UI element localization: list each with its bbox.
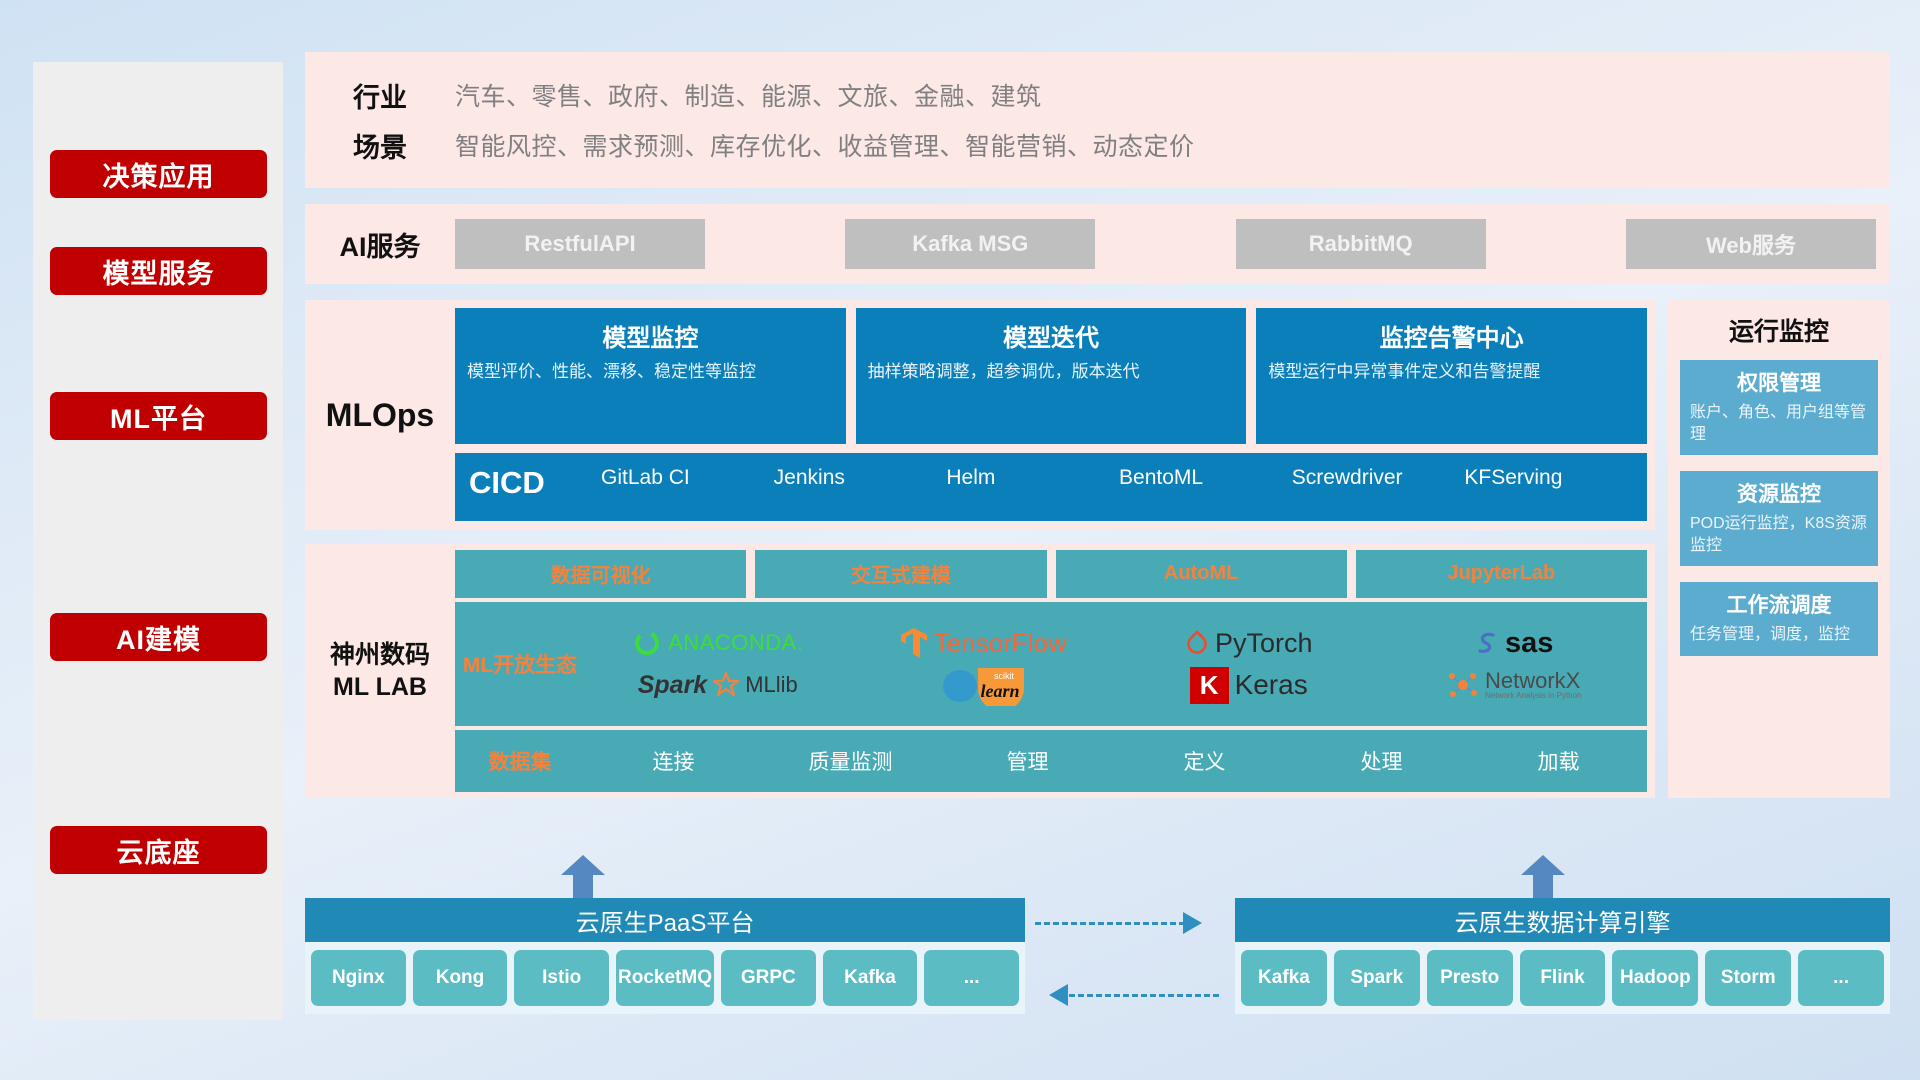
tech-chip-spark[interactable]: Spark bbox=[1334, 950, 1420, 1006]
cicd-item[interactable]: Helm bbox=[942, 465, 1115, 491]
spark-wordmark: Spark bbox=[638, 671, 707, 700]
networkx-logo: NetworkX Network Analysis in Python bbox=[1382, 670, 1648, 700]
anaconda-icon bbox=[632, 628, 662, 658]
ai-service-chip[interactable]: RestfulAPI bbox=[455, 219, 705, 269]
cicd-item[interactable]: Screwdriver bbox=[1288, 465, 1461, 491]
scikit-learn-logo: scikit learn bbox=[851, 664, 1117, 706]
ml-lab-panel: 神州数码 ML LAB 数据可视化 交互式建模 AutoML JupyterLa… bbox=[305, 544, 1655, 798]
networkx-icon bbox=[1447, 670, 1479, 700]
networkx-tagline: Network Analysis in Python bbox=[1485, 692, 1582, 700]
cicd-title: CICD bbox=[469, 465, 597, 501]
ml-lab-label-line1: 神州数码 bbox=[330, 639, 430, 672]
svg-text:learn: learn bbox=[981, 681, 1020, 701]
rail-chip-label: 云底座 bbox=[117, 831, 201, 870]
bidirectional-arrow-group bbox=[1027, 898, 1233, 1016]
rail-chip-label: ML平台 bbox=[110, 397, 207, 436]
ml-lab-body: 数据可视化 交互式建模 AutoML JupyterLab ML开放生态 ANA… bbox=[455, 544, 1655, 798]
rail-chip-cloud-base[interactable]: 云底座 bbox=[50, 826, 267, 874]
keras-wordmark: Keras bbox=[1235, 669, 1308, 701]
tech-chip-flink[interactable]: Flink bbox=[1520, 950, 1606, 1006]
ml-lab-label: 神州数码 ML LAB bbox=[305, 544, 455, 798]
dataset-title: 数据集 bbox=[455, 746, 585, 776]
dataset-item-list: 连接 质量监测 管理 定义 处理 加载 bbox=[585, 746, 1647, 776]
mlops-label: MLOps bbox=[305, 300, 455, 530]
monitor-card-title: 权限管理 bbox=[1690, 367, 1868, 397]
tech-chip-grpc[interactable]: GRPC bbox=[721, 950, 816, 1006]
anaconda-logo: ANACONDA. bbox=[585, 628, 851, 658]
keras-k-icon: K bbox=[1190, 667, 1229, 704]
monitor-card-desc: POD运行监控，K8S资源监控 bbox=[1690, 513, 1868, 556]
tech-chip-hadoop[interactable]: Hadoop bbox=[1612, 950, 1698, 1006]
dataset-item[interactable]: 定义 bbox=[1116, 746, 1293, 776]
ai-service-chip[interactable]: Web服务 bbox=[1626, 219, 1876, 269]
arrow-right-line bbox=[1035, 922, 1185, 925]
monitor-card-title: 资源监控 bbox=[1690, 478, 1868, 508]
scenario-row: 场景 智能风控、需求预测、库存优化、收益管理、智能营销、动态定价 bbox=[305, 120, 1890, 170]
tech-chip-nginx[interactable]: Nginx bbox=[311, 950, 406, 1006]
tech-chip-more[interactable]: ... bbox=[1798, 950, 1884, 1006]
dataset-item[interactable]: 管理 bbox=[939, 746, 1116, 776]
rail-chip-label: 模型服务 bbox=[103, 252, 215, 291]
tech-chip-more[interactable]: ... bbox=[924, 950, 1019, 1006]
keras-logo: K Keras bbox=[1116, 667, 1382, 704]
industry-panel: 行业 汽车、零售、政府、制造、能源、文旅、金融、建筑 场景 智能风控、需求预测、… bbox=[305, 52, 1890, 188]
mlops-card-title: 模型迭代 bbox=[868, 318, 1235, 353]
mlops-card-list: 模型监控 模型评价、性能、漂移、稳定性等监控 模型迭代 抽样策略调整，超参调优，… bbox=[455, 308, 1647, 444]
mlops-body: 模型监控 模型评价、性能、漂移、稳定性等监控 模型迭代 抽样策略调整，超参调优，… bbox=[455, 300, 1655, 530]
ml-lab-tab-interactive-modeling[interactable]: 交互式建模 bbox=[755, 550, 1046, 598]
runtime-monitor-panel: 运行监控 权限管理 账户、角色、用户组等管理 资源监控 POD运行监控，K8S资… bbox=[1668, 300, 1890, 798]
dataset-item[interactable]: 连接 bbox=[585, 746, 762, 776]
cloud-data-engine-block: 云原生数据计算引擎 Kafka Spark Presto Flink Hadoo… bbox=[1235, 898, 1890, 1014]
monitor-card-resource[interactable]: 资源监控 POD运行监控，K8S资源监控 bbox=[1680, 471, 1878, 566]
ml-ecosystem-title: ML开放生态 bbox=[455, 649, 585, 679]
mlops-card-title: 监控告警中心 bbox=[1268, 318, 1635, 353]
tech-chip-rocketmq[interactable]: RocketMQ bbox=[616, 950, 714, 1006]
rail-chip-model-service[interactable]: 模型服务 bbox=[50, 247, 267, 295]
ml-lab-label-line2: ML LAB bbox=[333, 671, 427, 704]
sas-icon bbox=[1475, 629, 1499, 657]
scenario-values: 智能风控、需求预测、库存优化、收益管理、智能营销、动态定价 bbox=[455, 127, 1195, 163]
arrow-left-line bbox=[1069, 994, 1219, 997]
rail-chip-label: AI建模 bbox=[116, 618, 201, 657]
ml-lab-tab-list: 数据可视化 交互式建模 AutoML JupyterLab bbox=[455, 550, 1647, 598]
cloud-data-engine-chip-list: Kafka Spark Presto Flink Hadoop Storm ..… bbox=[1235, 942, 1890, 1014]
ai-service-chip-list: RestfulAPI Kafka MSG RabbitMQ Web服务 bbox=[455, 219, 1890, 269]
dataset-band: 数据集 连接 质量监测 管理 定义 处理 加载 bbox=[455, 730, 1647, 792]
cicd-item[interactable]: Jenkins bbox=[770, 465, 943, 491]
spark-star-icon bbox=[713, 672, 739, 698]
sas-logo: sas bbox=[1382, 627, 1648, 660]
ai-service-chip[interactable]: Kafka MSG bbox=[845, 219, 1095, 269]
mlops-panel: MLOps 模型监控 模型评价、性能、漂移、稳定性等监控 模型迭代 抽样策略调整… bbox=[305, 300, 1655, 530]
ml-ecosystem-logo-grid: ANACONDA. TensorFlow bbox=[585, 622, 1647, 706]
pytorch-wordmark: PyTorch bbox=[1215, 628, 1313, 659]
pytorch-logo: PyTorch bbox=[1116, 628, 1382, 659]
industry-row: 行业 汽车、零售、政府、制造、能源、文旅、金融、建筑 bbox=[305, 70, 1890, 120]
cicd-bar: CICD GitLab CI Jenkins Helm BentoML Scre… bbox=[455, 453, 1647, 521]
monitor-card-workflow[interactable]: 工作流调度 任务管理，调度，监控 bbox=[1680, 582, 1878, 656]
runtime-monitor-title: 运行监控 bbox=[1680, 312, 1878, 348]
monitor-card-desc: 账户、角色、用户组等管理 bbox=[1690, 402, 1868, 445]
ai-service-label: AI服务 bbox=[305, 225, 455, 264]
up-arrow-paas-icon bbox=[560, 855, 606, 900]
sas-wordmark: sas bbox=[1505, 627, 1553, 660]
tensorflow-wordmark: TensorFlow bbox=[934, 628, 1067, 659]
tensorflow-logo: TensorFlow bbox=[851, 627, 1117, 659]
monitor-card-permission[interactable]: 权限管理 账户、角色、用户组等管理 bbox=[1680, 360, 1878, 455]
anaconda-wordmark: ANACONDA. bbox=[668, 630, 803, 656]
cloud-data-engine-title: 云原生数据计算引擎 bbox=[1235, 898, 1890, 942]
ml-lab-tab-jupyterlab[interactable]: JupyterLab bbox=[1356, 550, 1647, 598]
mlops-card-model-iteration[interactable]: 模型迭代 抽样策略调整，超参调优，版本迭代 bbox=[856, 308, 1247, 444]
mlops-card-model-monitoring[interactable]: 模型监控 模型评价、性能、漂移、稳定性等监控 bbox=[455, 308, 846, 444]
scenario-label: 场景 bbox=[305, 126, 455, 165]
monitor-card-desc: 任务管理，调度，监控 bbox=[1690, 624, 1868, 646]
rail-chip-ml-platform[interactable]: ML平台 bbox=[50, 392, 267, 440]
pytorch-icon bbox=[1185, 629, 1209, 657]
networkx-wordmark: NetworkX bbox=[1485, 670, 1582, 692]
dataset-item[interactable]: 加载 bbox=[1470, 746, 1647, 776]
industry-label: 行业 bbox=[305, 76, 455, 115]
cicd-item[interactable]: GitLab CI bbox=[597, 465, 770, 491]
mlops-card-desc: 模型评价、性能、漂移、稳定性等监控 bbox=[467, 361, 834, 384]
ai-service-chip[interactable]: RabbitMQ bbox=[1236, 219, 1486, 269]
monitor-card-title: 工作流调度 bbox=[1690, 589, 1868, 619]
cloud-paas-block: 云原生PaaS平台 Nginx Kong Istio RocketMQ GRPC… bbox=[305, 898, 1025, 1014]
industry-values: 汽车、零售、政府、制造、能源、文旅、金融、建筑 bbox=[455, 77, 1042, 113]
mlops-card-title: 模型监控 bbox=[467, 318, 834, 353]
dataset-item[interactable]: 质量监测 bbox=[762, 746, 939, 776]
mllib-wordmark: MLlib bbox=[745, 672, 798, 698]
ai-service-panel: AI服务 RestfulAPI Kafka MSG RabbitMQ Web服务 bbox=[305, 204, 1890, 284]
rail-chip-ai-modeling[interactable]: AI建模 bbox=[50, 613, 267, 661]
tech-chip-presto[interactable]: Presto bbox=[1427, 950, 1513, 1006]
cloud-paas-title: 云原生PaaS平台 bbox=[305, 898, 1025, 942]
cloud-base-section: 云原生PaaS平台 Nginx Kong Istio RocketMQ GRPC… bbox=[305, 855, 1890, 1015]
rail-chip-decision[interactable]: 决策应用 bbox=[50, 150, 267, 198]
tech-chip-kafka[interactable]: Kafka bbox=[823, 950, 918, 1006]
arrow-left-head-icon bbox=[1049, 984, 1068, 1006]
up-arrow-data-engine-icon bbox=[1520, 855, 1566, 900]
ml-lab-tab-data-visualization[interactable]: 数据可视化 bbox=[455, 550, 746, 598]
mlops-card-alert-center[interactable]: 监控告警中心 模型运行中异常事件定义和告警提醒 bbox=[1256, 308, 1647, 444]
mlops-card-desc: 模型运行中异常事件定义和告警提醒 bbox=[1268, 361, 1635, 384]
cicd-item[interactable]: BentoML bbox=[1115, 465, 1288, 491]
tech-chip-storm[interactable]: Storm bbox=[1705, 950, 1791, 1006]
spark-mllib-logo: Spark MLlib bbox=[585, 671, 851, 700]
dataset-item[interactable]: 处理 bbox=[1293, 746, 1470, 776]
tech-chip-kafka[interactable]: Kafka bbox=[1241, 950, 1327, 1006]
tech-chip-istio[interactable]: Istio bbox=[514, 950, 609, 1006]
mlops-card-desc: 抽样策略调整，超参调优，版本迭代 bbox=[868, 361, 1235, 384]
tech-chip-kong[interactable]: Kong bbox=[413, 950, 508, 1006]
cicd-item[interactable]: KFServing bbox=[1460, 465, 1633, 491]
ml-ecosystem-band: ML开放生态 ANACONDA. TensorFlow bbox=[455, 602, 1647, 726]
cicd-item-list: GitLab CI Jenkins Helm BentoML Screwdriv… bbox=[597, 465, 1633, 491]
scikit-learn-icon: scikit learn bbox=[938, 664, 1028, 706]
tensorflow-icon bbox=[900, 627, 928, 659]
svg-text:scikit: scikit bbox=[994, 671, 1014, 681]
arrow-right-head-icon bbox=[1183, 912, 1202, 934]
layer-rail: 决策应用 模型服务 ML平台 AI建模 云底座 bbox=[33, 62, 283, 1020]
cloud-paas-chip-list: Nginx Kong Istio RocketMQ GRPC Kafka ... bbox=[305, 942, 1025, 1014]
rail-chip-label: 决策应用 bbox=[103, 155, 215, 194]
ml-lab-tab-automl[interactable]: AutoML bbox=[1056, 550, 1347, 598]
